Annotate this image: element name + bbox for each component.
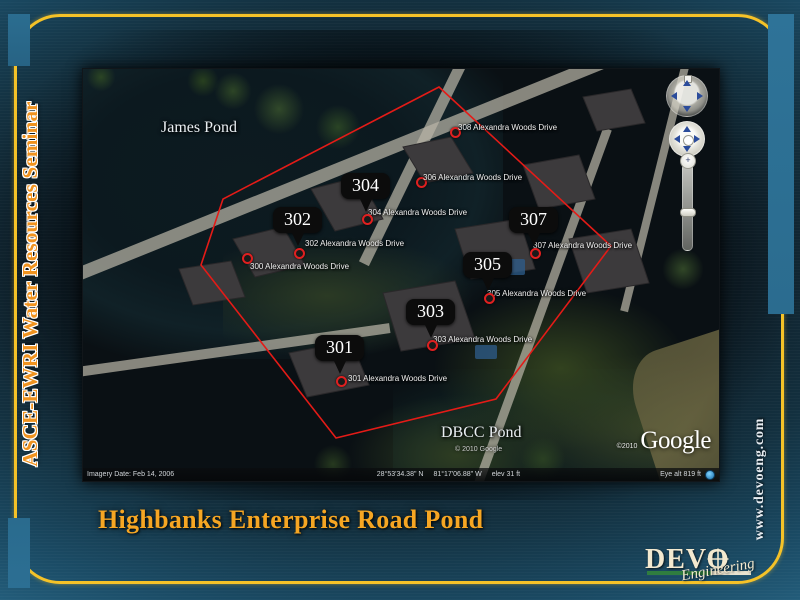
marker-305[interactable]: 305 (463, 252, 512, 278)
marker-301-label: 301 (315, 335, 364, 361)
pan-joystick-icon[interactable] (669, 121, 705, 157)
marker-307-tail (528, 233, 540, 246)
marker-301-tail (334, 361, 346, 374)
zoom-slider-knob[interactable] (680, 208, 696, 217)
marker-303-label: 303 (406, 299, 455, 325)
map-status-bar: Imagery Date: Feb 14, 2006 28°53'34.38" … (83, 468, 719, 481)
address-label-303: 303 Alexandra Woods Drive (433, 335, 532, 344)
google-logo-text: Google (640, 427, 711, 455)
marker-304[interactable]: 304 (341, 173, 390, 199)
google-earth-map[interactable]: James Pond DBCC Pond 301 301 Alexandra W… (82, 68, 720, 482)
marker-303-tail (425, 325, 437, 338)
latitude-text: 28°53'34.38" N (377, 471, 424, 478)
seminar-title-text: ASCE-EWRI Water Resources Seminar (18, 101, 42, 466)
frame-mask-left-bottom (8, 518, 30, 588)
map-navigation-controls[interactable]: + (665, 75, 709, 251)
website-url-text: www.devoeng.com (752, 418, 767, 540)
address-label-302: 302 Alexandra Woods Drive (305, 239, 404, 248)
address-label-305: 305 Alexandra Woods Drive (487, 289, 586, 298)
map-copyright-center: © 2010 Google (455, 446, 502, 453)
marker-307-dot[interactable] (530, 248, 541, 259)
marker-304-dot[interactable] (362, 214, 373, 225)
compass-right-arrow-icon[interactable] (697, 92, 703, 100)
marker-302-tail (292, 233, 304, 246)
marker-304-tail (360, 199, 372, 212)
address-label-307: 307 Alexandra Woods Drive (533, 241, 632, 250)
longitude-text: 81°17'06.88" W (433, 471, 481, 478)
pan-down-arrow-icon[interactable] (683, 146, 691, 152)
address-label-304: 304 Alexandra Woods Drive (368, 208, 467, 217)
marker-303[interactable]: 303 (406, 299, 455, 325)
address-label-306: 306 Alexandra Woods Drive (423, 173, 522, 182)
pan-right-arrow-icon[interactable] (694, 135, 700, 143)
streaming-status-icon (705, 470, 715, 480)
presentation-slide: ASCE-EWRI Water Resources Seminar www.de… (0, 0, 800, 600)
address-label-300: 300 Alexandra Woods Drive (250, 262, 349, 271)
google-watermark: ©2010 Google (617, 427, 711, 455)
imagery-date-text: Imagery Date: Feb 14, 2006 (87, 471, 174, 478)
compass-down-arrow-icon[interactable] (683, 106, 691, 112)
label-james-pond: James Pond (161, 119, 237, 137)
marker-305-dot[interactable] (484, 293, 495, 304)
address-label-301: 301 Alexandra Woods Drive (348, 374, 447, 383)
zoom-slider[interactable]: + (682, 163, 693, 251)
compass-left-arrow-icon[interactable] (671, 92, 677, 100)
marker-301[interactable]: 301 (315, 335, 364, 361)
marker-307[interactable]: 307 (509, 207, 558, 233)
marker-304-label: 304 (341, 173, 390, 199)
marker-302[interactable]: 302 (273, 207, 322, 233)
label-dbcc-pond: DBCC Pond (441, 424, 521, 442)
marker-305-label: 305 (463, 252, 512, 278)
compass-ring-icon[interactable] (666, 75, 708, 117)
eye-altitude-text: Eye alt 819 ft (660, 471, 701, 478)
marker-302-label: 302 (273, 207, 322, 233)
marker-301-dot[interactable] (336, 376, 347, 387)
marker-307-label: 307 (509, 207, 558, 233)
google-copyright-year: ©2010 (617, 443, 638, 450)
elevation-text: elev 31 ft (492, 471, 520, 478)
compass-up-arrow-icon[interactable] (683, 80, 691, 86)
pan-up-arrow-icon[interactable] (683, 126, 691, 132)
marker-302-dot[interactable] (294, 248, 305, 259)
marker-305-tail (482, 278, 494, 291)
marker-303-dot[interactable] (427, 340, 438, 351)
pan-center-icon[interactable] (683, 135, 694, 146)
address-label-308: 308 Alexandra Woods Drive (458, 123, 557, 132)
frame-mask-right-top (768, 14, 794, 314)
devo-logo: DEVO Engineering (645, 540, 775, 588)
slide-title: Highbanks Enterprise Road Pond (98, 505, 483, 535)
pan-left-arrow-icon[interactable] (674, 135, 680, 143)
zoom-in-icon[interactable]: + (680, 153, 696, 169)
seminar-title-vertical: ASCE-EWRI Water Resources Seminar (18, 59, 58, 509)
